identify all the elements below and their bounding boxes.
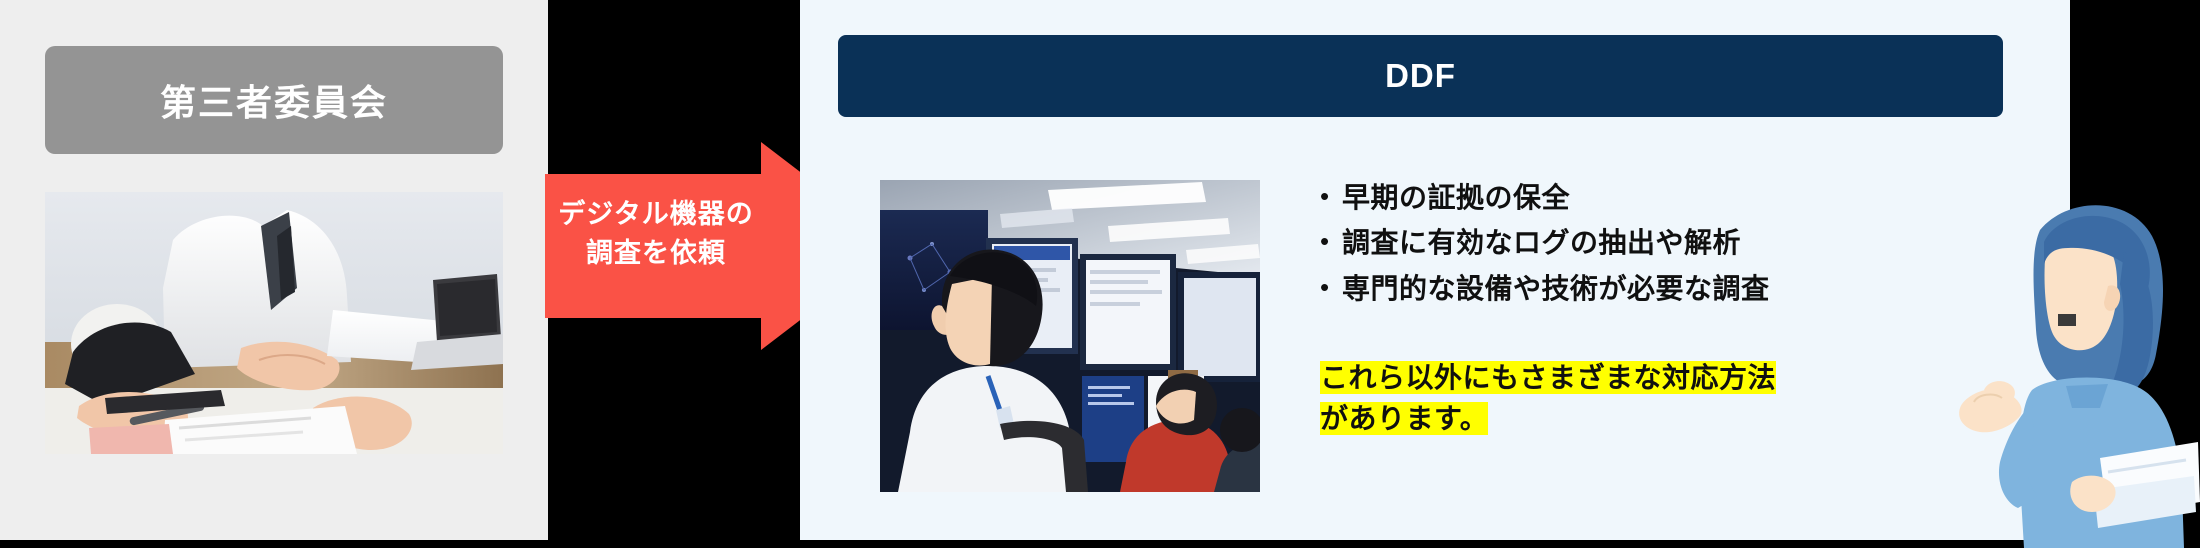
- ddf-title: DDF: [1385, 57, 1456, 95]
- meeting-photo: [45, 192, 503, 454]
- third-party-committee-title-box: 第三者委員会: [45, 46, 503, 154]
- soc-operations-photo: [880, 180, 1260, 492]
- ddf-bullet-list: • 早期の証拠の保全 • 調査に有効なログの抽出や解析 • 専門的な設備や技術が…: [1320, 182, 1980, 318]
- highlighted-note: これら以外にもさまざまな対応方法 があります。: [1320, 358, 1850, 440]
- list-item: • 早期の証拠の保全: [1320, 182, 1980, 213]
- ddf-header-bar: DDF: [838, 35, 2003, 117]
- bullet-marker-icon: •: [1320, 182, 1342, 211]
- bullet-text: 調査に有効なログの抽出や解析: [1342, 227, 1741, 258]
- highlight-line-1: これら以外にもさまざまな対応方法: [1320, 358, 1850, 399]
- list-item: • 専門的な設備や技術が必要な調査: [1320, 273, 1980, 304]
- left-panel-title: 第三者委員会: [160, 74, 388, 126]
- list-item: • 調査に有効なログの抽出や解析: [1320, 227, 1980, 258]
- left-panel: 第三者委員会: [0, 0, 548, 540]
- bullet-text: 専門的な設備や技術が必要な調査: [1342, 273, 1770, 304]
- highlight-line-2: があります。: [1320, 399, 1850, 440]
- slide-canvas: 第三者委員会: [0, 0, 2200, 548]
- highlight-span-2: があります。: [1320, 402, 1488, 435]
- bullet-text: 早期の証拠の保全: [1342, 182, 1570, 213]
- presenter-woman-illustration: [1948, 190, 2200, 548]
- bullet-marker-icon: •: [1320, 273, 1342, 302]
- highlight-span-1: これら以外にもさまざまな対応方法: [1320, 361, 1776, 394]
- right-panel: DDF: [800, 0, 2070, 540]
- bullet-marker-icon: •: [1320, 227, 1342, 256]
